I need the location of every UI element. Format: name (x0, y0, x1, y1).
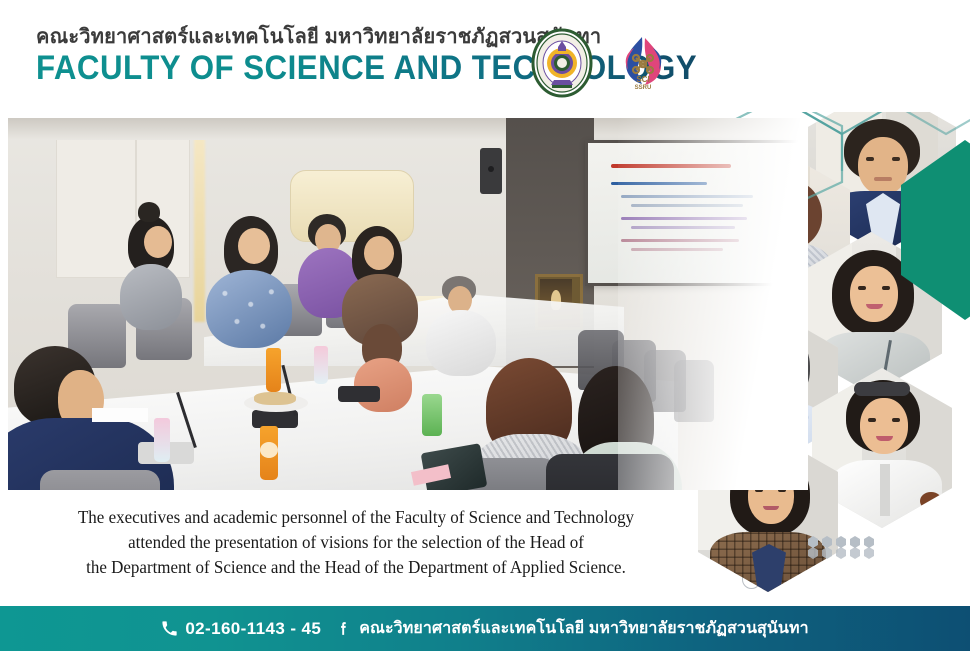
phone-number: 02-160-1143 - 45 (185, 619, 321, 639)
photo-right-fade (618, 118, 808, 490)
water-bottle-2 (314, 346, 328, 384)
svg-text:SCI: SCI (636, 75, 649, 84)
ssru-university-seal-logo (531, 28, 593, 98)
chair-front-left (40, 470, 160, 490)
juice-bottle-2 (266, 348, 281, 392)
person-orange-woman-body (354, 358, 412, 412)
person-center-woman-pattern (206, 270, 292, 348)
caption-line-3: the Department of Science and the Head o… (11, 555, 702, 580)
person-standing-man-body (426, 310, 496, 376)
caption-text: The executives and academic personnel of… (0, 505, 712, 580)
person-far-woman-1-body (120, 264, 182, 330)
footer-phone[interactable]: 02-160-1143 - 45 (161, 619, 321, 639)
person-far-woman-1-face (144, 226, 172, 258)
speaker-cone (488, 166, 494, 172)
juice-bottle-1-label (260, 442, 278, 458)
sci-ssru-flame-logo: SCI SSRU (612, 32, 674, 94)
microphone-base-3 (338, 386, 380, 402)
person-far-man-hair (138, 202, 160, 222)
green-tumbler (422, 394, 442, 436)
water-bottle-1 (154, 418, 170, 462)
hexagon-dot-pattern-bottom (806, 534, 882, 560)
footer-facebook[interactable]: คณะวิทยาศาสตร์และเทคโนโลยี มหาวิทยาลัยรา… (335, 616, 808, 641)
poster-root: คณะวิทยาศาสตร์และเทคโนโลยี มหาวิทยาลัยรา… (0, 0, 970, 651)
document-stack (92, 408, 148, 422)
header: คณะวิทยาศาสตร์และเทคโนโลยี มหาวิทยาลัยรา… (0, 0, 970, 112)
facebook-icon (335, 620, 352, 637)
wall-panel-left (56, 126, 136, 278)
caption-line-2: attended the presentation of visions for… (11, 530, 702, 555)
svg-text:SSRU: SSRU (635, 85, 652, 91)
wall-light-strip (194, 122, 205, 322)
phone-icon (161, 620, 178, 637)
caption-line-1: The executives and academic personnel of… (11, 505, 702, 530)
page-title-english: FACULTY OF SCIENCE AND TECHNOLOGY (36, 51, 697, 86)
facebook-page-name: คณะวิทยาศาสตร์และเทคโนโลยี มหาวิทยาลัยรา… (359, 616, 808, 641)
snack-items-2 (254, 392, 296, 405)
meeting-room-photograph (8, 118, 808, 490)
footer-bar: 02-160-1143 - 45 คณะวิทยาศาสตร์และเทคโนโ… (0, 606, 970, 651)
person-center-woman-face (238, 228, 270, 264)
person-brown-woman-face (364, 236, 394, 270)
